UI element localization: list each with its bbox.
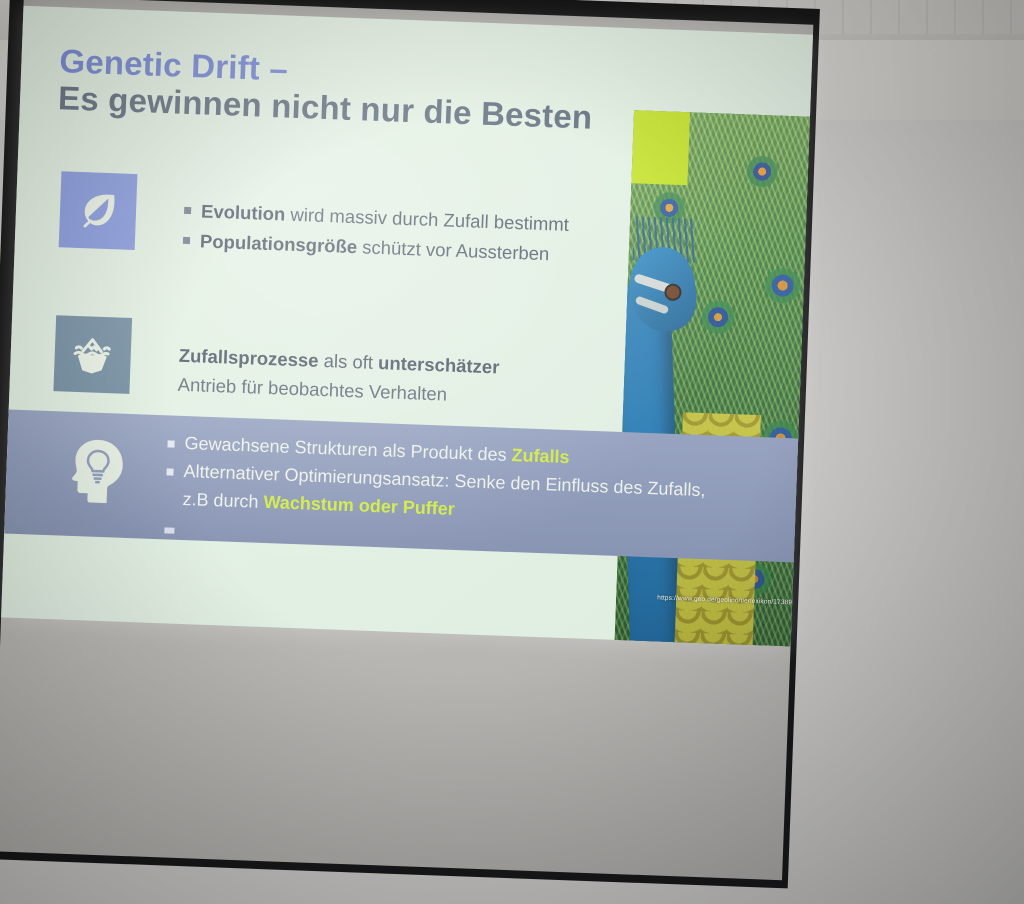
iceberg-icon-tile — [53, 315, 132, 394]
slide-title: Genetic Drift – Es gewinnen nicht nur di… — [57, 43, 629, 138]
head-lightbulb-icon-tile — [59, 430, 136, 517]
clipped-third-bullet-marker — [164, 527, 174, 533]
head-lightbulb-icon — [65, 434, 130, 511]
projector-screen: https://www.geo.de/geolino/tierlexikon/1… — [0, 0, 1024, 904]
presentation-slide: https://www.geo.de/geolino/tierlexikon/1… — [1, 6, 813, 647]
iceberg-icon — [69, 331, 117, 379]
photo-shading — [613, 110, 810, 646]
leaf-icon — [75, 188, 121, 234]
peacock-photo — [613, 110, 810, 646]
section-2-strong-1: Zufallsprozesse — [178, 345, 319, 371]
callout-b2-highlight: Wachstum oder Puffer — [263, 492, 455, 519]
section-1-bullets: Evolution wird massiv durch Zufall besti… — [182, 196, 614, 272]
section-2-mid: als oft — [318, 350, 378, 373]
bullet-rest: schützt vor Aussterben — [357, 236, 550, 264]
section-1-text: Evolution wird massiv durch Zufall besti… — [182, 196, 614, 272]
callout-b2-line2-pre: z.B durch — [182, 489, 264, 512]
section-2-strong-2: unterschätzer — [378, 352, 500, 377]
accent-square-lime — [631, 110, 690, 185]
bullet-strong: Evolution — [201, 200, 286, 224]
callout-b1-highlight: Zufalls — [511, 445, 570, 467]
section-2-text: Zufallsprozesse als oft unterschätzer An… — [177, 342, 579, 414]
leaf-icon-tile — [59, 171, 138, 250]
room-photo-scene: https://www.geo.de/geolino/tierlexikon/1… — [0, 0, 1024, 904]
bullet-strong: Populationsgröße — [200, 230, 358, 257]
